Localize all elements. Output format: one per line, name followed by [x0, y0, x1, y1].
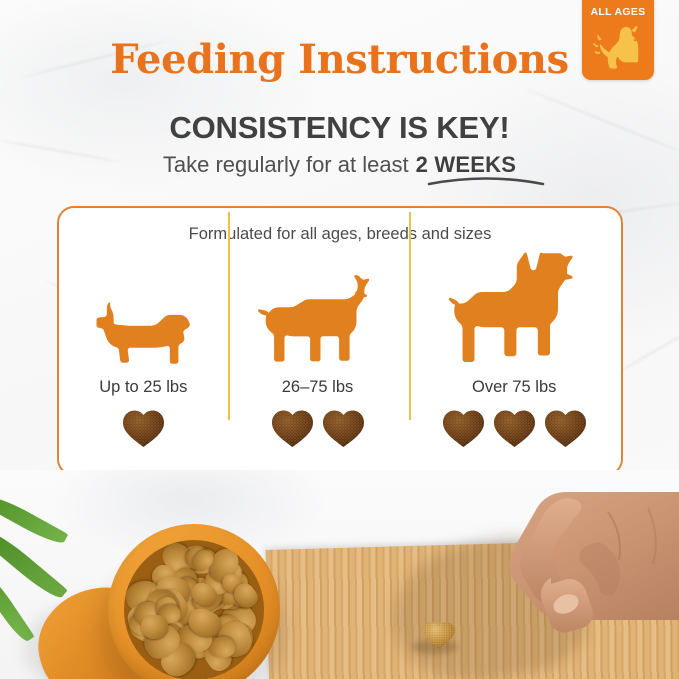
size-label-medium: 26–75 lbs [282, 378, 354, 397]
tagline-underline-arc [427, 174, 545, 186]
page-subtitle: CONSISTENCY IS KEY! [0, 110, 679, 146]
size-label-large: Over 75 lbs [472, 378, 556, 397]
heart-shaped-kibble-icon [321, 407, 366, 449]
heart-shaped-kibble-icon [270, 407, 315, 449]
all-ages-badge-label: ALL AGES [582, 6, 654, 18]
page-title: Feeding Instructions [0, 36, 679, 83]
hand [448, 482, 679, 679]
small-dog-illustration [95, 252, 191, 370]
feeding-instructions-poster: ALL AGES Feeding Instructions CONSISTENC… [0, 0, 679, 679]
feeding-chart-card: Formulated for all ages, breeds and size… [57, 206, 623, 476]
heart-shaped-kibble-icon [441, 407, 486, 449]
heart-shaped-kibble-icon [492, 407, 537, 449]
single-kibble [422, 620, 456, 650]
card-caption: Formulated for all ages, breeds and size… [59, 225, 621, 244]
medium-dog-illustration [257, 252, 379, 370]
size-label-small: Up to 25 lbs [99, 378, 187, 397]
size-columns: Up to 25 lbs [59, 252, 621, 476]
small-dog-silhouette-icon [95, 302, 191, 370]
treat-count-medium [270, 407, 366, 449]
treat-count-small [121, 407, 166, 449]
large-dog-illustration [446, 252, 582, 370]
jar-kibble-fill [124, 540, 264, 679]
heart-shaped-kibble-icon [543, 407, 588, 449]
heart-shaped-kibble-icon [121, 407, 166, 449]
tagline-prefix: Take regularly for at least [163, 152, 409, 177]
large-dog-silhouette-icon [446, 252, 582, 370]
size-column-small: Up to 25 lbs [59, 252, 228, 476]
size-column-medium: 26–75 lbs [228, 252, 408, 476]
tagline: Take regularly for at least2 WEEKS [0, 152, 679, 178]
medium-dog-silhouette-icon [257, 274, 379, 370]
size-column-large: Over 75 lbs [407, 252, 621, 476]
treat-count-large [441, 407, 588, 449]
